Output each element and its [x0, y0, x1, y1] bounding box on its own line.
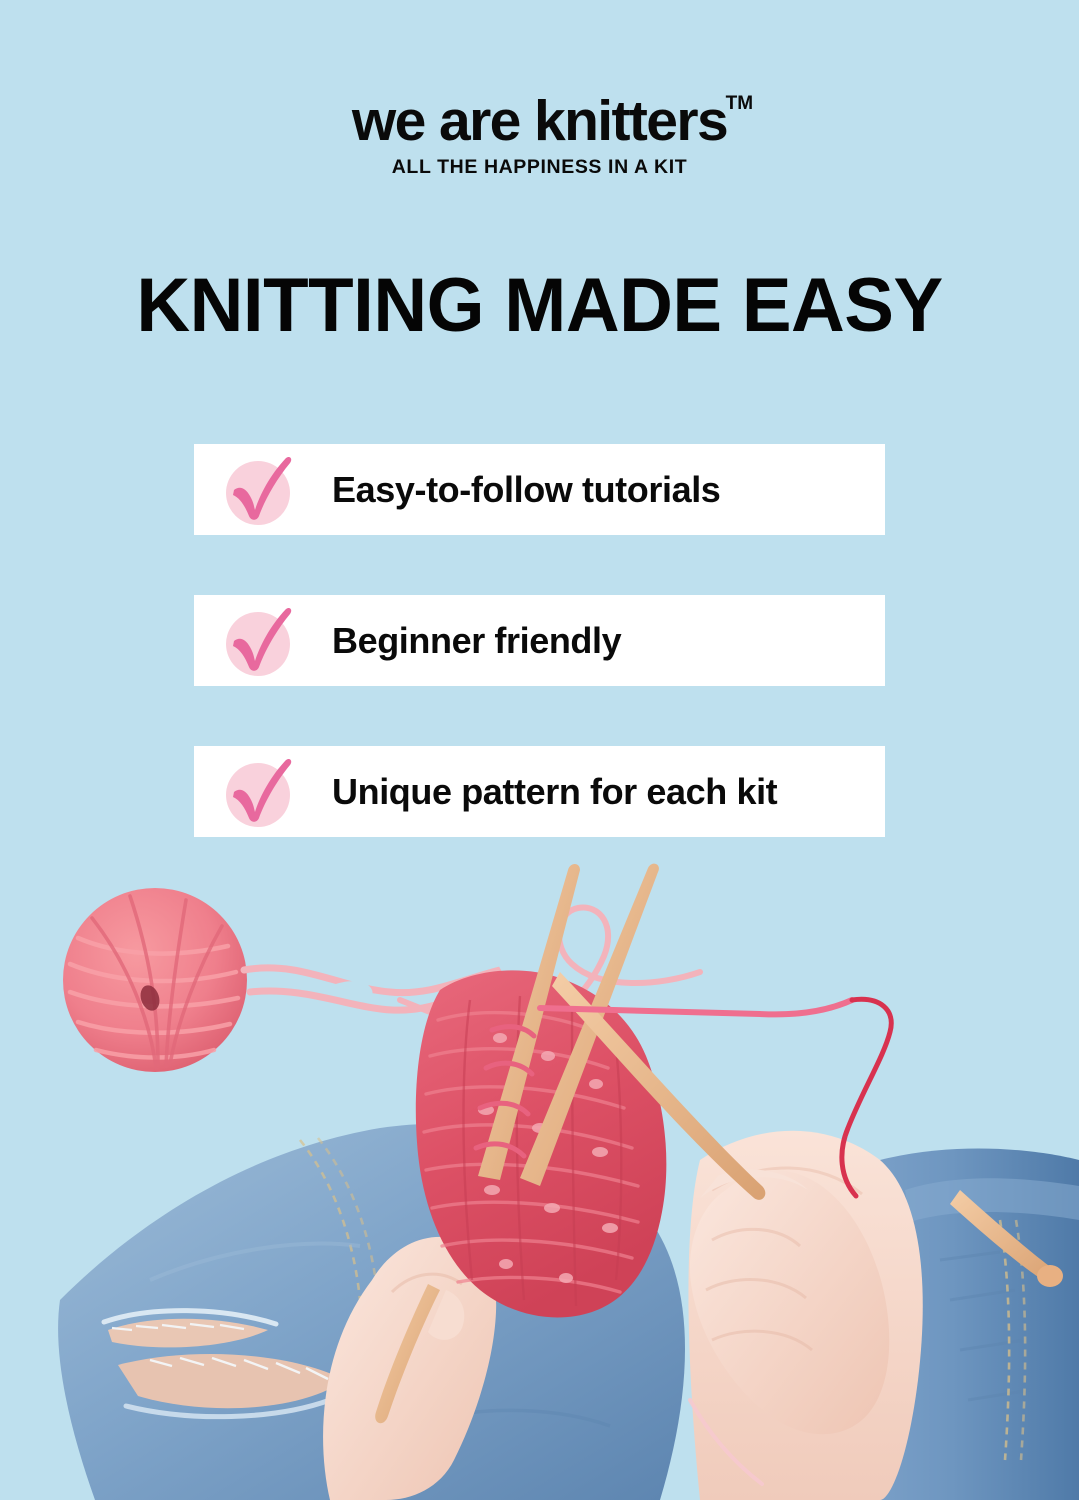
- brand-logo: we are knitters TM ALL THE HAPPINESS IN …: [0, 92, 1079, 179]
- check-icon: [220, 452, 296, 528]
- hero-photo: [0, 860, 1079, 1500]
- feature-list: Easy-to-follow tutorials Beginner friend…: [194, 444, 885, 837]
- brand-tagline: ALL THE HAPPINESS IN A KIT: [0, 156, 1079, 179]
- check-icon: [220, 603, 296, 679]
- poster-root: we are knitters TM ALL THE HAPPINESS IN …: [0, 0, 1079, 1500]
- page-title: KNITTING MADE EASY: [11, 262, 1068, 349]
- feature-label: Easy-to-follow tutorials: [332, 469, 720, 511]
- brand-wordmark-text: we are knitters: [352, 89, 727, 153]
- feature-card: Unique pattern for each kit: [194, 746, 885, 837]
- feature-label: Beginner friendly: [332, 620, 621, 662]
- feature-card: Beginner friendly: [194, 595, 885, 686]
- feature-card: Easy-to-follow tutorials: [194, 444, 885, 535]
- feature-label: Unique pattern for each kit: [332, 771, 777, 813]
- trademark-symbol: TM: [726, 94, 753, 113]
- brand-wordmark-container: we are knitters TM: [352, 92, 727, 150]
- check-icon: [220, 754, 296, 830]
